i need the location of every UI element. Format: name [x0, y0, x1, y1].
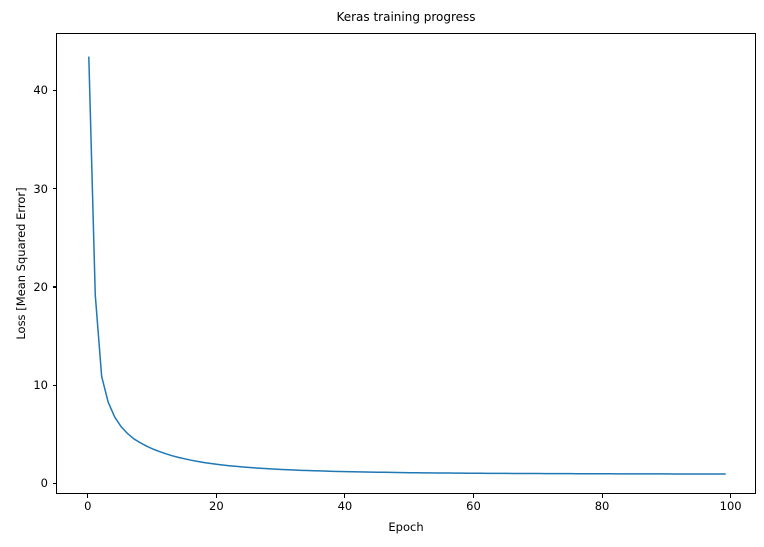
plot-area [56, 33, 756, 494]
y-tick-mark [53, 385, 57, 386]
matplotlib-figure: Keras training progress 020406080100 010… [0, 0, 764, 547]
loss-line-path [89, 57, 725, 474]
x-tick-label: 60 [453, 500, 493, 512]
y-axis-label: Loss [Mean Squared Error] [14, 33, 30, 494]
x-tick-label: 80 [582, 500, 622, 512]
x-tick-label: 0 [68, 500, 108, 512]
x-tick-mark [730, 494, 731, 498]
x-tick-mark [602, 494, 603, 498]
page-title: Keras training progress [56, 10, 756, 24]
y-tick-mark [53, 286, 57, 287]
x-tick-label: 20 [196, 500, 236, 512]
x-tick-label: 100 [711, 500, 751, 512]
y-tick-mark [53, 90, 57, 91]
y-tick-mark [53, 483, 57, 484]
x-axis-label: Epoch [56, 520, 756, 534]
x-tick-mark [344, 494, 345, 498]
line-series-svg [57, 34, 757, 495]
x-tick-mark [216, 494, 217, 498]
y-tick-mark [53, 188, 57, 189]
x-tick-label: 40 [325, 500, 365, 512]
x-tick-mark [473, 494, 474, 498]
x-tick-mark [87, 494, 88, 498]
